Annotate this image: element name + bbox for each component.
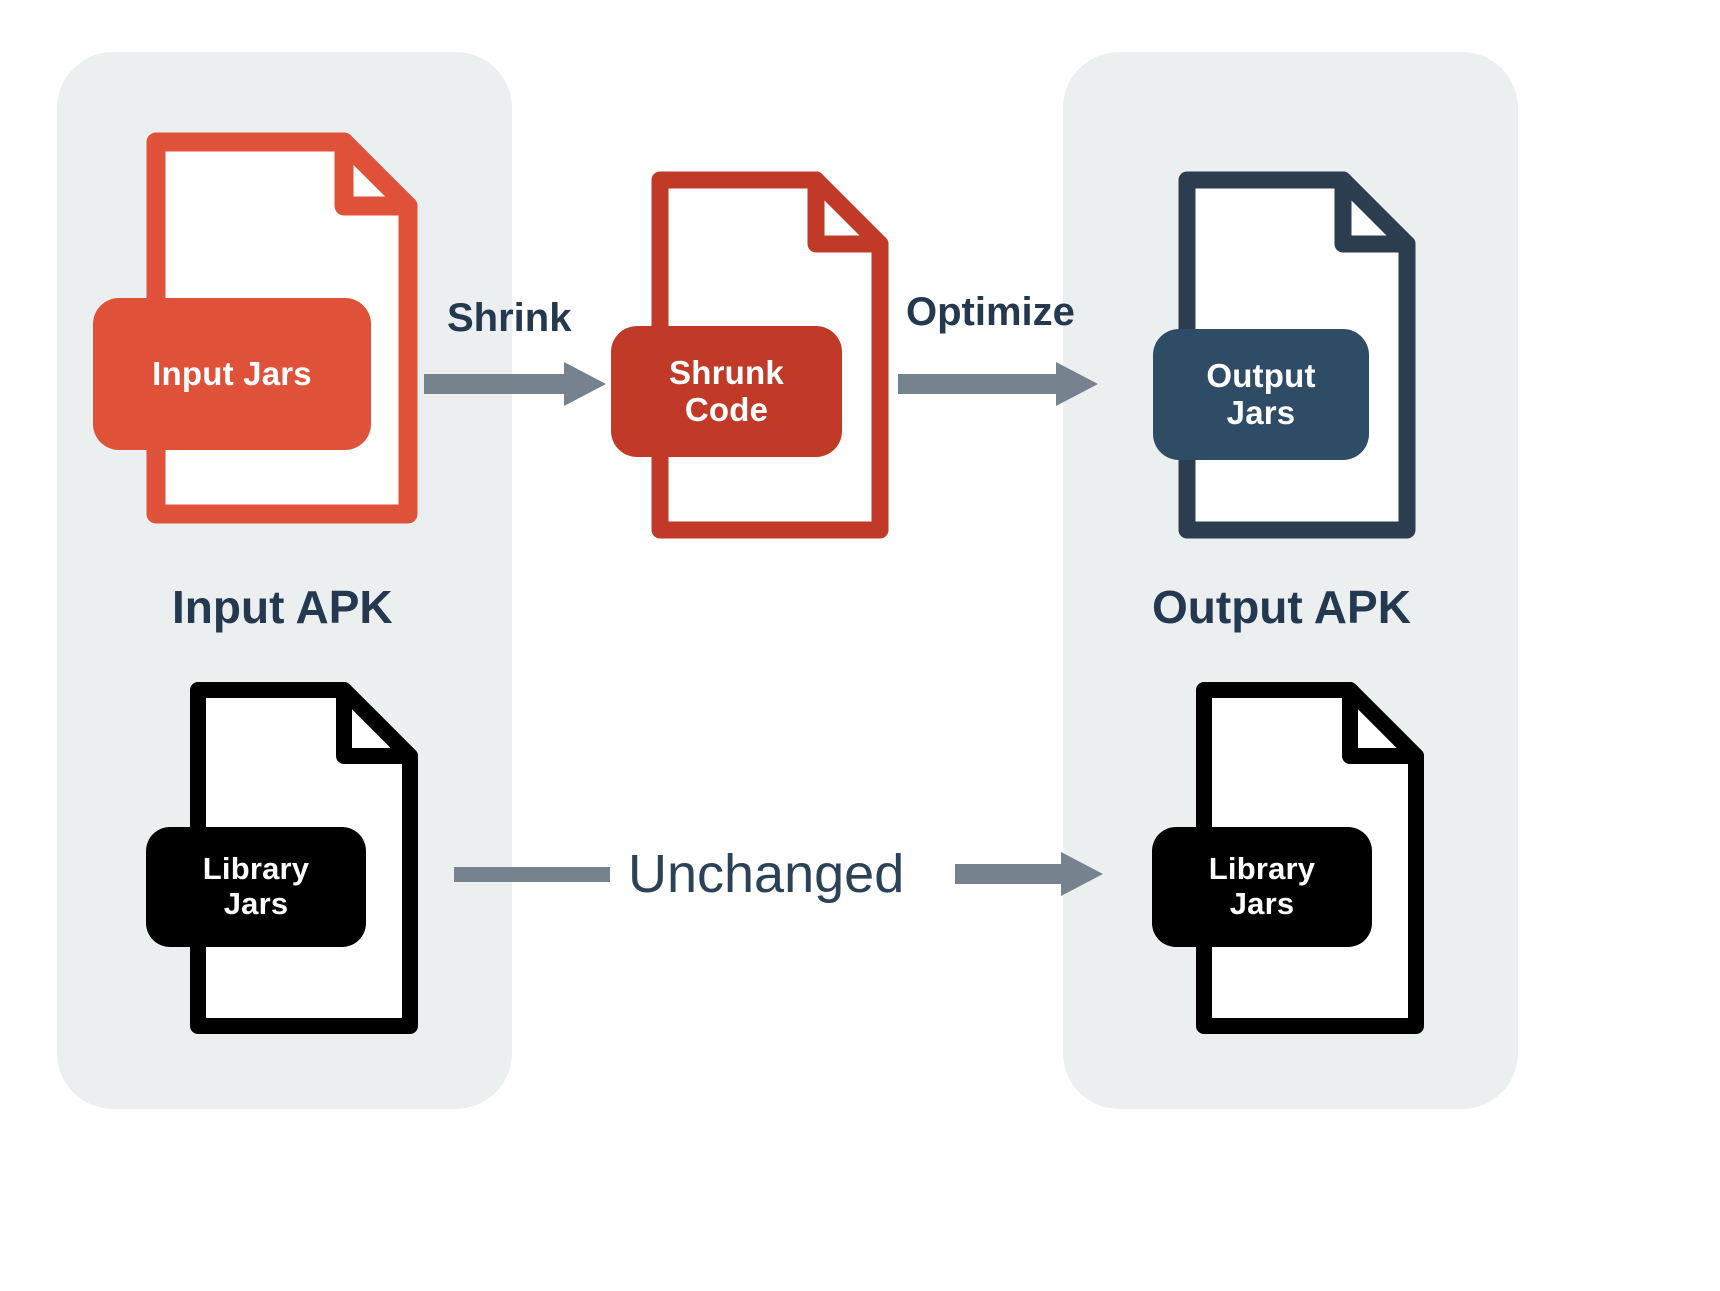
library-jars-chip-left-line1: Library xyxy=(203,851,310,886)
unchanged-label: Unchanged xyxy=(628,843,904,905)
library-jars-chip-right-label: Library Jars xyxy=(1209,852,1316,921)
optimize-step-label: Optimize xyxy=(906,290,1075,335)
input-apk-caption: Input APK xyxy=(172,580,393,634)
output-apk-caption: Output APK xyxy=(1152,580,1411,634)
unchanged-left-line xyxy=(454,862,610,886)
output-jars-chip: Output Jars xyxy=(1153,329,1369,460)
shrunk-code-chip: Shrunk Code xyxy=(611,326,842,457)
library-jars-chip-left-line2: Jars xyxy=(224,886,289,921)
optimize-arrow-connector xyxy=(898,360,1098,408)
output-jars-chip-line1: Output xyxy=(1206,357,1315,394)
library-jars-chip-left-label: Library Jars xyxy=(203,852,310,921)
input-jars-chip: Input Jars xyxy=(93,298,371,450)
unchanged-right-arrow xyxy=(955,850,1103,898)
shrunk-code-chip-line2: Code xyxy=(685,391,768,428)
shrink-step-label: Shrink xyxy=(447,296,571,341)
shrunk-code-chip-line1: Shrunk xyxy=(669,354,784,391)
diagram-canvas: Input Jars Shrunk Code Output Jars Libra… xyxy=(0,0,1720,1291)
library-jars-chip-right-line2: Jars xyxy=(1230,886,1295,921)
input-jars-chip-label: Input Jars xyxy=(152,356,312,393)
library-jars-chip-left: Library Jars xyxy=(146,827,366,947)
output-jars-chip-label: Output Jars xyxy=(1206,358,1315,432)
library-jars-chip-right: Library Jars xyxy=(1152,827,1372,947)
output-jars-chip-line2: Jars xyxy=(1227,394,1296,431)
shrink-arrow-connector xyxy=(424,360,606,408)
shrunk-code-chip-label: Shrunk Code xyxy=(669,355,784,429)
library-jars-chip-right-line1: Library xyxy=(1209,851,1316,886)
